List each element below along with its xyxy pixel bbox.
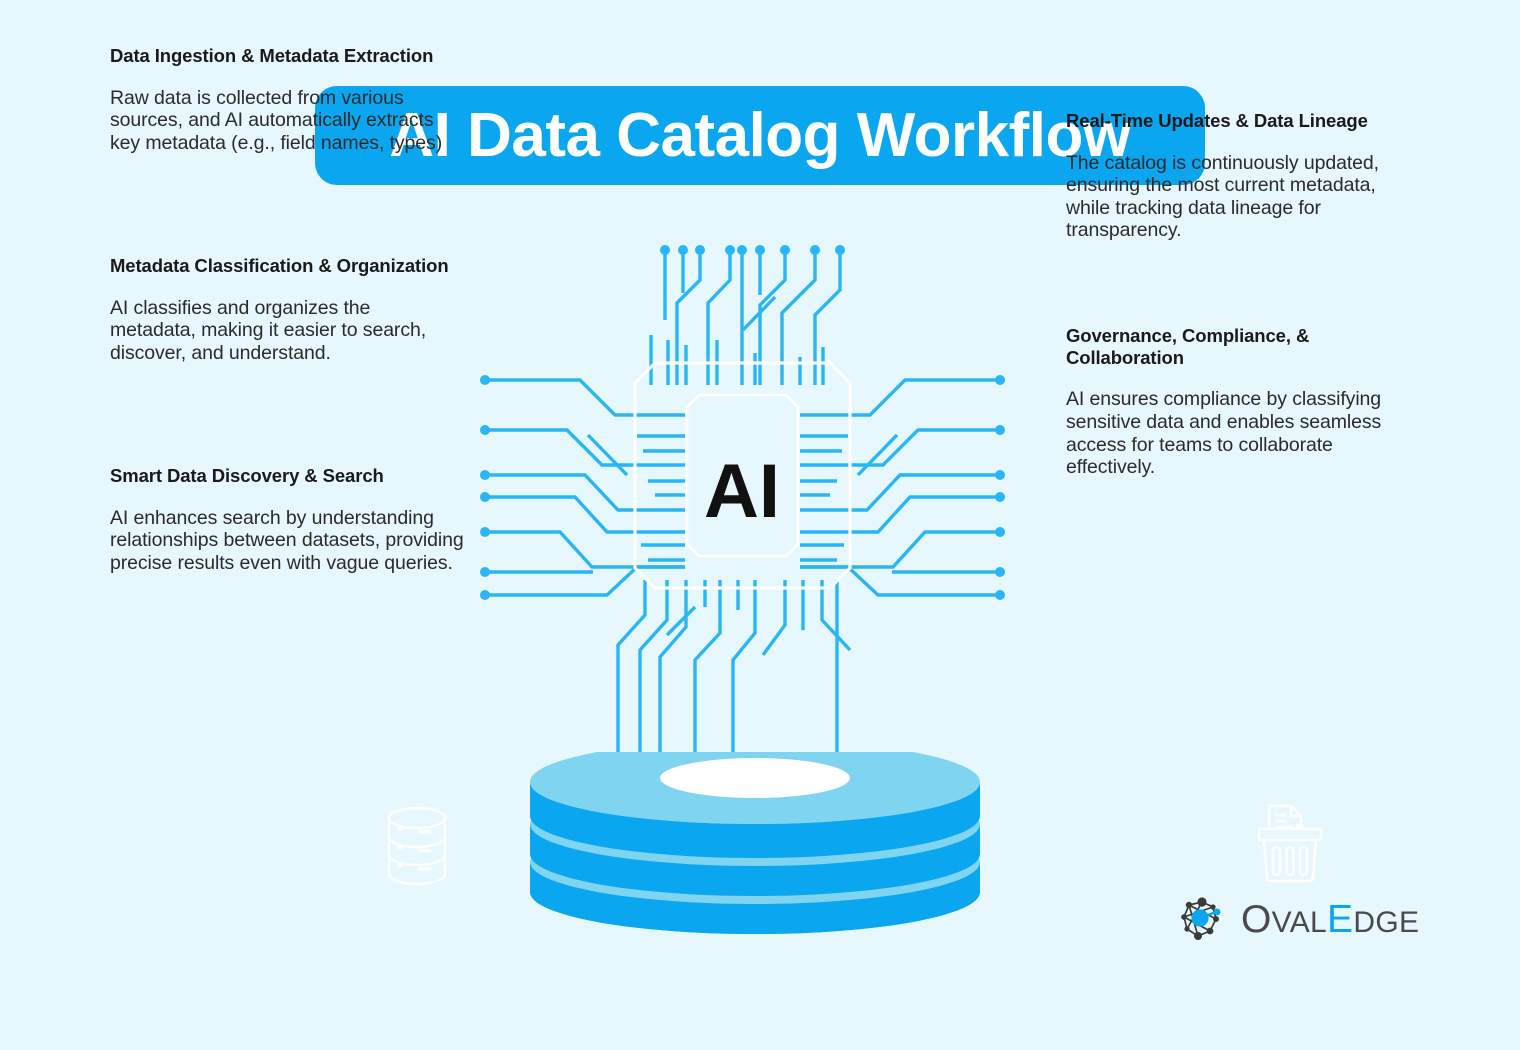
logo-wordmark: OVALEDGE	[1241, 900, 1419, 939]
left-block-1-body: Raw data is collected from various sourc…	[110, 87, 460, 155]
trace-endpoint-dots-right	[995, 375, 1005, 600]
document-trash-watermark-icon	[1252, 798, 1328, 891]
trace-endpoint-dots-left	[480, 375, 490, 600]
right-block-1-body: The catalog is continuously updated, ens…	[1066, 152, 1421, 242]
ovaledge-network-mark	[1176, 893, 1228, 945]
left-block-1-heading: Data Ingestion & Metadata Extraction	[110, 45, 460, 67]
right-block-2: Governance, Compliance, & Collaboration …	[1066, 325, 1421, 479]
ai-chip-graphic: AI	[455, 235, 1030, 765]
left-block-3-heading: Smart Data Discovery & Search	[110, 465, 470, 487]
database-watermark-icon	[378, 805, 456, 892]
left-block-2: Metadata Classification & Organization A…	[110, 255, 460, 364]
left-block-3: Smart Data Discovery & Search AI enhance…	[110, 465, 470, 574]
logo-o: O	[1241, 898, 1272, 941]
right-block-2-body: AI ensures compliance by classifying sen…	[1066, 388, 1421, 478]
chip-ai-label: AI	[704, 449, 780, 534]
left-block-2-heading: Metadata Classification & Organization	[110, 255, 460, 277]
logo-val: VAL	[1272, 906, 1327, 939]
right-block-1: Real-Time Updates & Data Lineage The cat…	[1066, 110, 1421, 242]
left-block-3-body: AI enhances search by understanding rela…	[110, 507, 470, 575]
db-disc-top	[530, 752, 980, 858]
page-title: AI Data Catalog Workflow	[389, 105, 1130, 167]
right-block-2-heading: Governance, Compliance, & Collaboration	[1066, 325, 1421, 368]
infographic-canvas: AI Data Catalog Workflow Data Ingestion …	[0, 0, 1520, 1050]
left-block-2-body: AI classifies and organizes the metadata…	[110, 297, 460, 365]
right-block-1-heading: Real-Time Updates & Data Lineage	[1066, 110, 1421, 132]
left-block-1: Data Ingestion & Metadata Extraction Raw…	[110, 45, 460, 154]
ovaledge-logo: OVALEDGE	[1176, 893, 1419, 945]
logo-dge: DGE	[1353, 906, 1419, 939]
logo-e: E	[1327, 898, 1353, 941]
trace-endpoint-dots-top	[660, 245, 845, 255]
database-cylinder-graphic	[525, 752, 985, 952]
db-top-hole	[660, 758, 850, 798]
